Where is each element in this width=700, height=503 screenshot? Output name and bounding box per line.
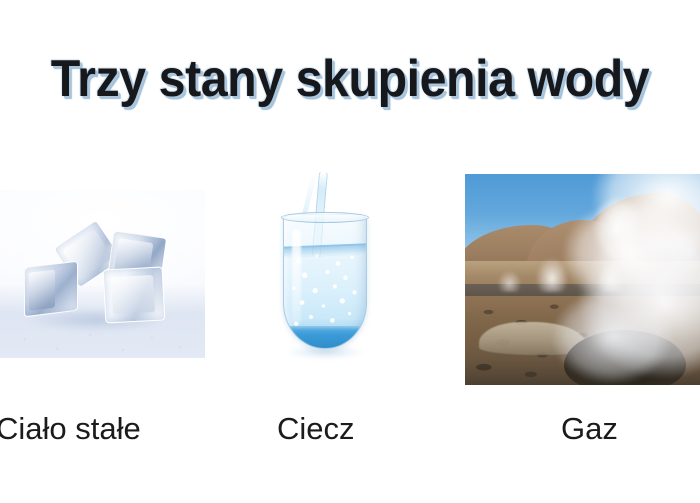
- water-glass-image: [265, 172, 385, 367]
- glass-blue-base: [289, 326, 361, 348]
- glass-rim: [281, 212, 369, 223]
- caption-solid: Ciało stałe: [0, 411, 141, 447]
- ice-cubes-image: [0, 190, 205, 358]
- caption-liquid: Ciecz: [277, 411, 355, 447]
- geyser-steam-image: [465, 174, 700, 385]
- glass-body: [283, 214, 367, 349]
- steam-plume-main: [550, 174, 700, 385]
- slide-root: { "slide": { "title": "Trzy stany skupie…: [0, 0, 700, 503]
- ice-cube-front-right: [103, 266, 166, 323]
- caption-gas: Gaz: [561, 411, 618, 447]
- ice-cube-front-left: [24, 261, 78, 318]
- steam-plume-small-left: [498, 271, 522, 292]
- glass-highlight: [292, 229, 301, 325]
